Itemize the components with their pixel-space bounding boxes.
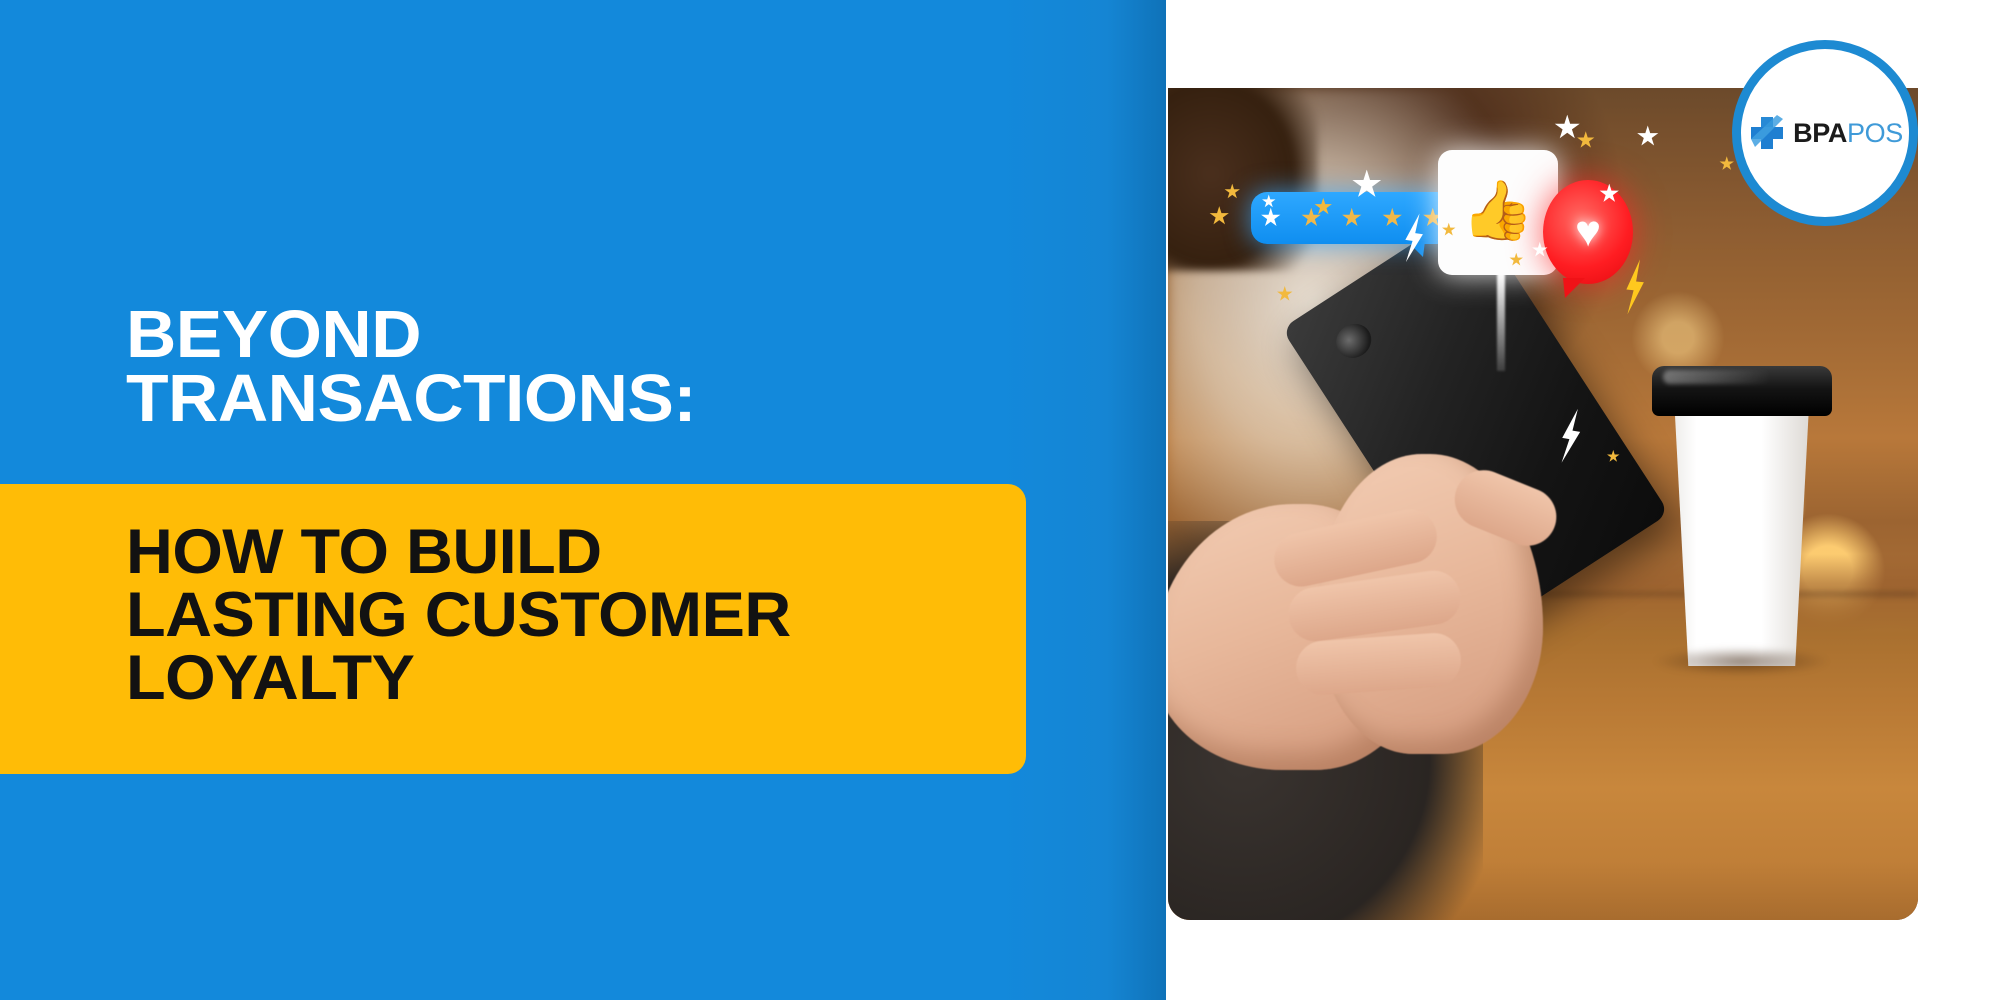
star-icon — [1261, 208, 1281, 228]
headline-line-2: TRANSACTIONS: — [126, 367, 1083, 431]
logo-text-bpa: BPA — [1793, 118, 1847, 148]
headline-line-1: BEYOND — [126, 303, 1083, 367]
star-icon — [1382, 208, 1402, 228]
heart-icon: ♥ — [1575, 210, 1601, 254]
cup-lid — [1652, 366, 1832, 417]
person-hair — [1168, 88, 1318, 271]
phone-camera — [1330, 317, 1378, 364]
logo-inner: BPAPOS — [1747, 113, 1903, 153]
cup-body — [1661, 391, 1823, 666]
star-rating-bubble — [1251, 192, 1454, 244]
logo-wordmark: BPAPOS — [1793, 118, 1903, 149]
star-icon — [1342, 208, 1362, 228]
cup-shadow — [1655, 647, 1828, 675]
thumbs-up-card: 👍 — [1438, 150, 1558, 275]
subhead-line-3: LOYALTY — [126, 647, 1012, 710]
thumb-card-stem — [1497, 271, 1505, 371]
coffee-cup — [1652, 350, 1832, 666]
logo-text-pos: POS — [1847, 118, 1903, 148]
thumbs-up-icon: 👍 — [1462, 182, 1534, 240]
blog-banner: BEYOND TRANSACTIONS: HOW TO BUILD LASTIN… — [0, 0, 1999, 1000]
subhead-line-2: LASTING CUSTOMER — [126, 584, 1012, 647]
subhead-line-1: HOW TO BUILD — [126, 521, 1012, 584]
star-icon — [1301, 208, 1321, 228]
bpa-cross-mark-icon — [1747, 113, 1787, 153]
brand-logo-badge[interactable]: BPAPOS — [1732, 40, 1918, 226]
page-title: BEYOND TRANSACTIONS: — [126, 303, 1083, 430]
page-subtitle: HOW TO BUILD LASTING CUSTOMER LOYALTY — [126, 521, 1012, 710]
heart-bubble: ♥ — [1543, 180, 1633, 285]
